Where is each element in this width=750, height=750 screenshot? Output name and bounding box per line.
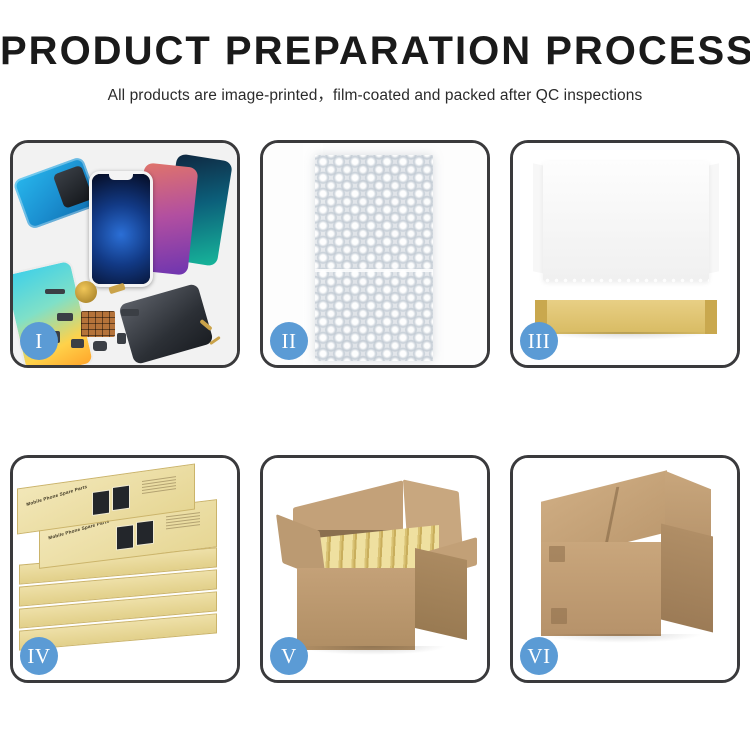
step-badge-2: II xyxy=(270,322,308,360)
step-panel-3: III xyxy=(510,140,740,368)
small-part xyxy=(121,309,139,316)
box-phone-image xyxy=(92,489,110,516)
step-panel-5: V xyxy=(260,455,490,683)
step-panel-4: Mobile Phone Spare Parts Mobile Phone Sp… xyxy=(10,455,240,683)
step-panel-2: II xyxy=(260,140,490,368)
small-part xyxy=(45,289,65,294)
step-badge-3: III xyxy=(520,322,558,360)
carton-front-face xyxy=(297,568,415,650)
page-title: PRODUCT PREPARATION PROCESS xyxy=(0,30,750,72)
product-preparation-infographic: PRODUCT PREPARATION PROCESS All products… xyxy=(0,0,750,750)
drop-shadow xyxy=(297,646,447,655)
drop-shadow xyxy=(539,332,715,340)
phone-back-housing xyxy=(118,283,214,365)
phone-front-screen xyxy=(89,171,153,287)
page-subtitle: All products are image-printed，film-coat… xyxy=(0,83,750,105)
box-phone-image xyxy=(136,520,154,546)
mailer-box-body xyxy=(535,300,717,334)
step-panel-1: I xyxy=(10,140,240,368)
wrap-seam xyxy=(315,269,433,272)
small-part xyxy=(57,313,73,321)
box-spec-lines xyxy=(166,512,200,531)
box-phone-image xyxy=(112,485,130,512)
mailer-lid xyxy=(543,161,709,281)
step-panel-6: VI xyxy=(510,455,740,683)
header: PRODUCT PREPARATION PROCESS All products… xyxy=(0,0,750,105)
mailer-box-right-edge xyxy=(705,300,717,334)
step-badge-6: VI xyxy=(520,637,558,675)
step-badge-1: I xyxy=(20,322,58,360)
connector-grid-part xyxy=(81,311,115,337)
carton-flap-tab xyxy=(549,546,565,562)
small-part xyxy=(117,333,126,344)
bubble-wrap-filling xyxy=(543,276,709,302)
lcd-assembly-blue xyxy=(13,156,100,230)
carton-flap-tab xyxy=(551,608,567,624)
box-spec-lines xyxy=(142,476,176,496)
bubble-wrapped-item xyxy=(315,155,433,361)
step-badge-5: V xyxy=(270,637,308,675)
drop-shadow xyxy=(543,634,703,643)
box-phone-image xyxy=(116,524,134,550)
carton-side-face xyxy=(661,524,713,633)
step-badge-4: IV xyxy=(20,637,58,675)
carton-side-face xyxy=(415,548,467,640)
small-part xyxy=(93,341,107,351)
process-steps-grid: I II III xyxy=(10,140,740,683)
coil-part xyxy=(75,281,97,303)
small-part xyxy=(71,339,84,348)
box-brand-text: Mobile Phone Spare Parts xyxy=(26,484,88,507)
